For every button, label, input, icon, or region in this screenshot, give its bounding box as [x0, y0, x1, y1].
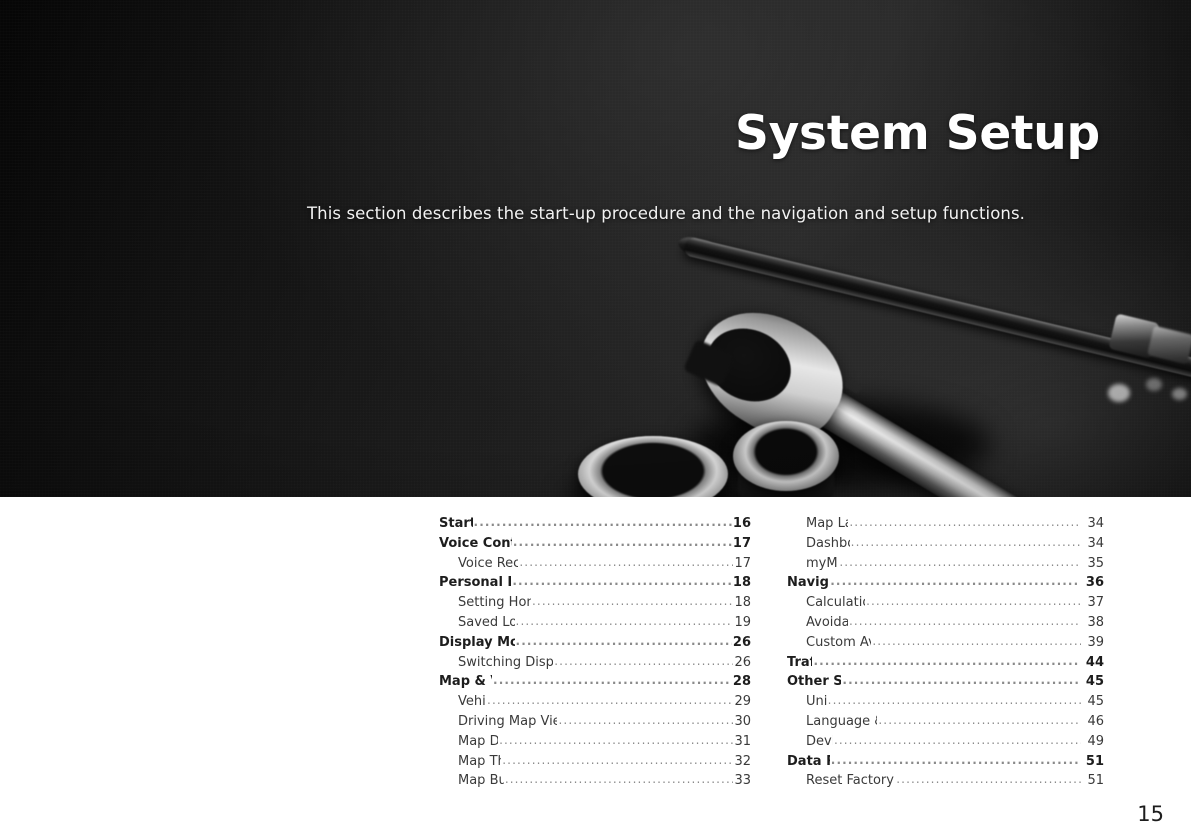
toc-dot-leader: ........................................… — [532, 594, 733, 608]
toc-dot-leader: ........................................… — [493, 673, 732, 687]
toc-entry[interactable]: Custom Avoidances.......................… — [787, 635, 1104, 655]
toc-entry[interactable]: Device..................................… — [787, 734, 1104, 754]
toc-entry-page-number: 51 — [1081, 754, 1104, 769]
toc-entry[interactable]: Navigation..............................… — [787, 575, 1104, 595]
toc-entry[interactable]: Traffic.................................… — [787, 655, 1104, 675]
table-of-contents: Start-up................................… — [0, 497, 1191, 840]
toc-dot-leader: ........................................… — [516, 614, 733, 628]
toc-entry[interactable]: Calculation Mode........................… — [787, 595, 1104, 615]
toc-column-left: Start-up................................… — [439, 516, 751, 793]
toc-entry-label: Voice Control System — [439, 536, 512, 551]
toc-entry-page-number: 33 — [734, 773, 751, 788]
toc-dot-leader: ........................................… — [866, 594, 1081, 608]
toc-entry[interactable]: Voice Control System....................… — [439, 536, 751, 556]
toc-entry-label: Traffic — [787, 655, 812, 670]
toc-dot-leader: ........................................… — [851, 535, 1081, 549]
toc-column-right: Map Layers..............................… — [787, 516, 1104, 793]
toc-entry-label: Custom Avoidances — [806, 635, 871, 650]
toc-dot-leader: ........................................… — [502, 753, 733, 767]
toc-dot-leader: ........................................… — [849, 614, 1081, 628]
page-title: System Setup — [735, 106, 1100, 161]
toc-dot-leader: ........................................… — [512, 574, 732, 588]
toc-entry-page-number: 31 — [734, 734, 751, 749]
toc-entry-page-number: 18 — [733, 575, 751, 590]
toc-entry[interactable]: Vehicle.................................… — [439, 694, 751, 714]
toc-entry-label: Map Buttons — [458, 773, 504, 788]
toc-entry-page-number: 36 — [1081, 575, 1104, 590]
toc-entry-label: Language & Keyboard — [806, 714, 877, 729]
toc-dot-leader: ........................................… — [842, 673, 1079, 687]
toc-entry-page-number: 38 — [1082, 615, 1104, 630]
toc-entry[interactable]: Switching Display Mode Manually.........… — [439, 655, 751, 675]
toc-dot-leader: ........................................… — [516, 634, 732, 648]
toc-entry-label: Map & Vehicle — [439, 674, 492, 689]
toc-dot-leader: ........................................… — [834, 733, 1081, 747]
toc-entry-page-number: 44 — [1081, 655, 1104, 670]
toc-entry-label: myMaps — [806, 556, 838, 571]
toc-entry-page-number: 39 — [1082, 635, 1104, 650]
toc-entry-label: Vehicle — [458, 694, 486, 709]
toc-entry-page-number: 29 — [734, 694, 751, 709]
toc-dot-leader: ........................................… — [519, 555, 733, 569]
toc-entry-label: Calculation Mode — [806, 595, 865, 610]
toc-entry-label: Other Settings — [787, 674, 841, 689]
toc-dot-leader: ........................................… — [831, 753, 1080, 767]
toc-entry-label: Device — [806, 734, 833, 749]
toc-entry[interactable]: Map Buttons.............................… — [439, 773, 751, 793]
toc-dot-leader: ........................................… — [513, 535, 732, 549]
toc-dot-leader: ........................................… — [828, 693, 1081, 707]
toc-entry[interactable]: Avoidances..............................… — [787, 615, 1104, 635]
toc-entry[interactable]: Reset Factory Default Settings..........… — [787, 773, 1104, 793]
toc-dot-leader: ........................................… — [487, 693, 733, 707]
toc-dot-leader: ........................................… — [499, 733, 733, 747]
toc-entry-label: Display Mode Settings — [439, 635, 515, 650]
toc-dot-leader: ........................................… — [878, 713, 1081, 727]
toc-entry-label: Voice Recognition — [458, 556, 518, 571]
toc-entry-page-number: 26 — [734, 655, 751, 670]
toc-entry-label: Switching Display Mode Manually — [458, 655, 553, 670]
toc-dot-leader: ........................................… — [813, 654, 1079, 668]
toc-entry-page-number: 28 — [733, 674, 751, 689]
toc-entry[interactable]: Language & Keyboard.....................… — [787, 714, 1104, 734]
toc-entry-label: Start-up — [439, 516, 473, 531]
toc-entry[interactable]: Voice Recognition.......................… — [439, 556, 751, 576]
hero-vignette — [0, 0, 1191, 497]
toc-entry-page-number: 17 — [734, 556, 751, 571]
toc-entry-page-number: 37 — [1082, 595, 1104, 610]
toc-entry[interactable]: Other Settings..........................… — [787, 674, 1104, 694]
toc-entry-page-number: 49 — [1082, 734, 1104, 749]
toc-entry-label: Data Reset — [787, 754, 830, 769]
toc-entry-page-number: 45 — [1082, 694, 1104, 709]
toc-entry-label: Dashboards — [806, 536, 850, 551]
toc-dot-leader: ........................................… — [830, 574, 1080, 588]
toc-entry-label: Saved Locations — [458, 615, 515, 630]
toc-entry-page-number: 17 — [733, 536, 751, 551]
toc-entry-label: Personal Information — [439, 575, 511, 590]
chapter-hero-banner: System Setup This section describes the … — [0, 0, 1191, 497]
toc-entry-page-number: 34 — [1082, 536, 1104, 551]
toc-entry[interactable]: Units...................................… — [787, 694, 1104, 714]
toc-entry[interactable]: Start-up................................… — [439, 516, 751, 536]
toc-entry[interactable]: Data Reset..............................… — [787, 754, 1104, 774]
toc-dot-leader: ........................................… — [872, 634, 1081, 648]
toc-entry-page-number: 35 — [1082, 556, 1104, 571]
toc-dot-leader: ........................................… — [839, 555, 1081, 569]
page-number: 15 — [1137, 802, 1164, 826]
toc-entry-label: Map Detail — [458, 734, 498, 749]
toc-entry-page-number: 19 — [734, 615, 751, 630]
toc-dot-leader: ........................................… — [558, 713, 733, 727]
toc-entry-label: Avoidances — [806, 615, 848, 630]
toc-entry[interactable]: Driving Map View (Map Orientation)......… — [439, 714, 751, 734]
toc-entry[interactable]: Map & Vehicle...........................… — [439, 674, 751, 694]
toc-entry-label: Map Layers — [806, 516, 848, 531]
toc-entry[interactable]: myMaps..................................… — [787, 556, 1104, 576]
toc-entry-label: Driving Map View (Map Orientation) — [458, 714, 557, 729]
toc-dot-leader: ........................................… — [554, 654, 733, 668]
toc-dot-leader: ........................................… — [474, 515, 732, 529]
toc-entry[interactable]: Personal Information....................… — [439, 575, 751, 595]
toc-entry[interactable]: Saved Locations.........................… — [439, 615, 751, 635]
page-subtitle: This section describes the start-up proc… — [307, 204, 1025, 223]
toc-dot-leader: ........................................… — [849, 515, 1081, 529]
toc-entry-page-number: 46 — [1082, 714, 1104, 729]
toc-entry[interactable]: Map Detail..............................… — [439, 734, 751, 754]
toc-entry[interactable]: Map Theme...............................… — [439, 754, 751, 774]
toc-entry-page-number: 32 — [734, 754, 751, 769]
toc-entry-page-number: 18 — [734, 595, 751, 610]
toc-entry-page-number: 34 — [1082, 516, 1104, 531]
toc-entry-page-number: 45 — [1081, 674, 1104, 689]
toc-entry[interactable]: Setting Home Location...................… — [439, 595, 751, 615]
toc-entry-page-number: 30 — [734, 714, 751, 729]
toc-entry-label: Navigation — [787, 575, 829, 590]
toc-dot-leader: ........................................… — [505, 772, 733, 786]
toc-entry-label: Map Theme — [458, 754, 501, 769]
toc-entry-page-number: 51 — [1082, 773, 1104, 788]
toc-entry-page-number: 16 — [733, 516, 751, 531]
toc-entry-label: Reset Factory Default Settings — [806, 773, 895, 788]
toc-entry-page-number: 26 — [733, 635, 751, 650]
toc-dot-leader: ........................................… — [896, 772, 1081, 786]
toc-entry-label: Setting Home Location — [458, 595, 531, 610]
toc-entry[interactable]: Dashboards..............................… — [787, 536, 1104, 556]
toc-entry-label: Units — [806, 694, 827, 709]
toc-entry[interactable]: Display Mode Settings...................… — [439, 635, 751, 655]
toc-entry[interactable]: Map Layers..............................… — [787, 516, 1104, 536]
